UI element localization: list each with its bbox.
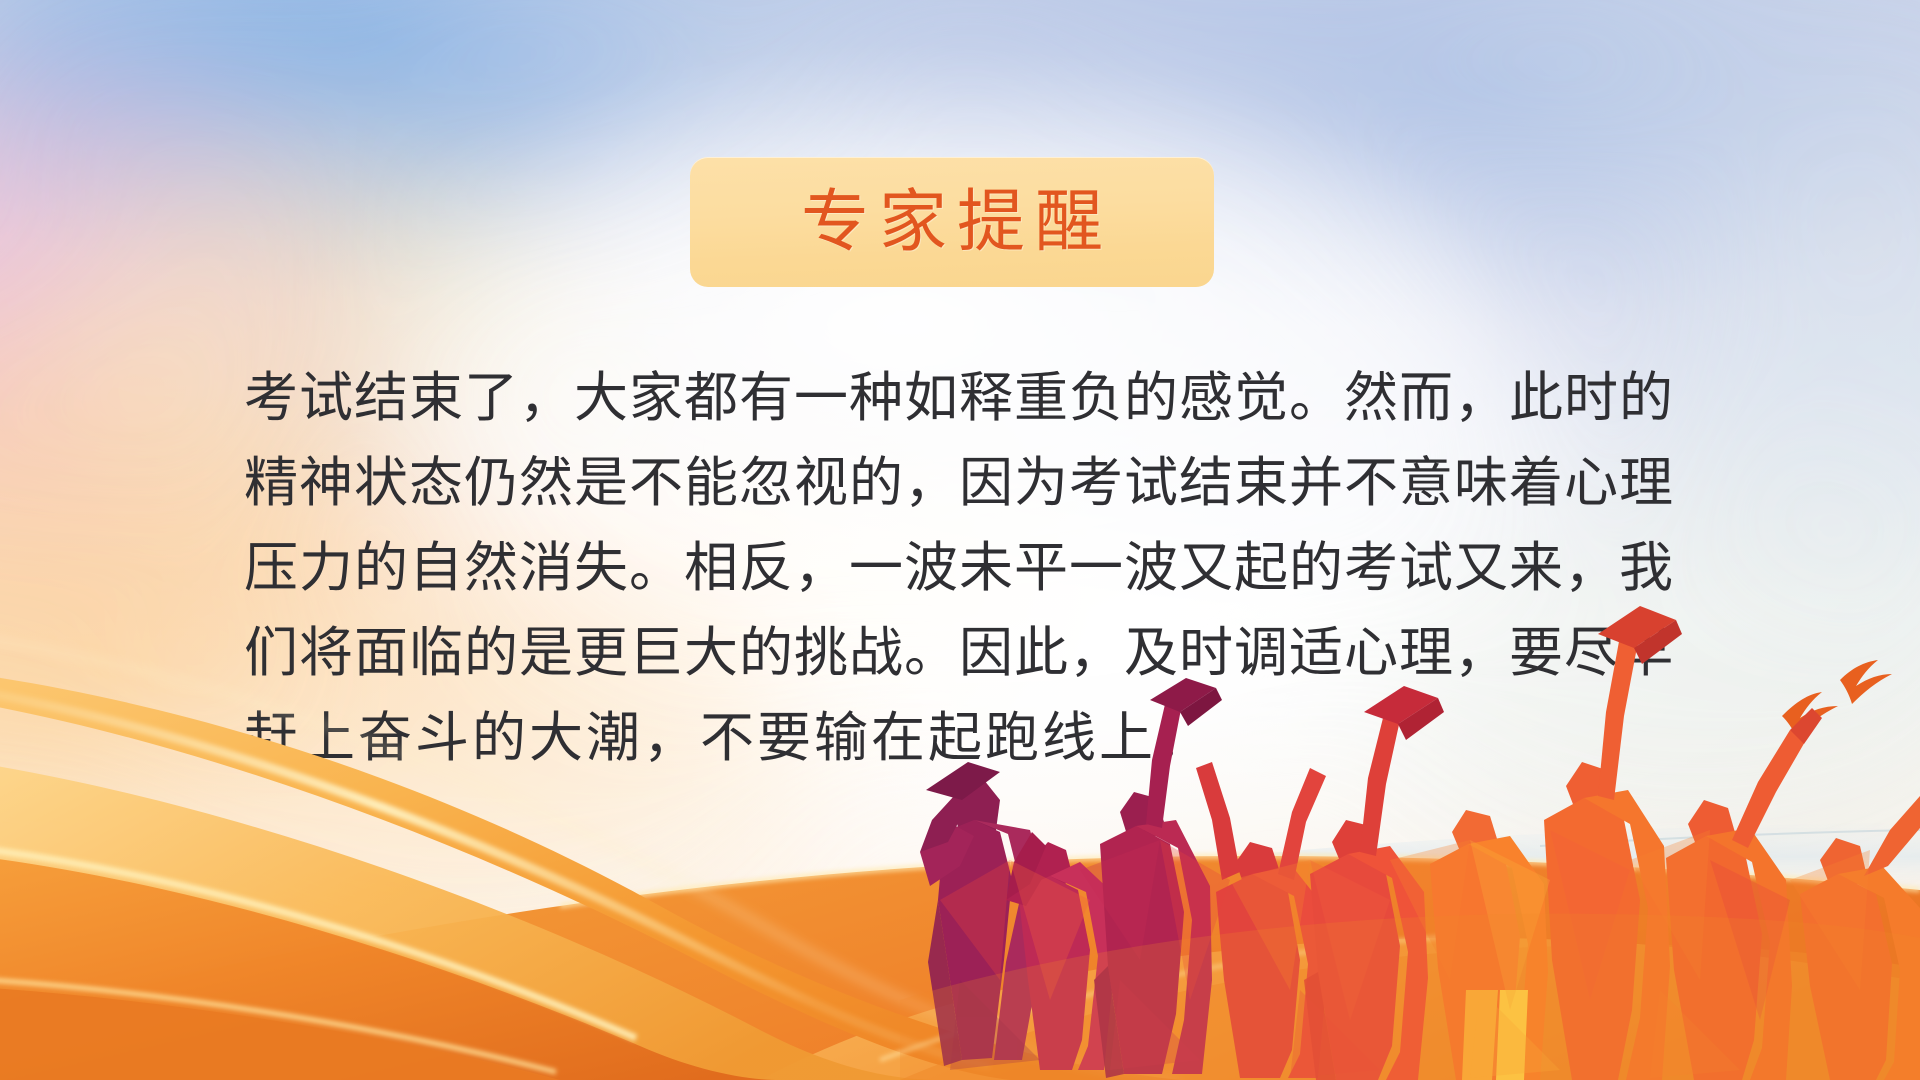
body-line-5: 赶上奋斗的大潮，不要输在起跑线上！	[244, 696, 1696, 781]
page-title: 专家提醒	[791, 188, 1113, 256]
body-line-2: 精神状态仍然是不能忽视的，因为考试结束并不意味着心理	[244, 441, 1696, 526]
body-line-2-text: 精神状态仍然是不能忽视的，因为考试结束并不意味着心理	[244, 441, 1674, 526]
body-line-3: 压力的自然消失。相反，一波未平一波又起的考试又来，我	[244, 526, 1696, 611]
body-line-3-text: 压力的自然消失。相反，一波未平一波又起的考试又来，我	[244, 526, 1674, 611]
body-line-4-text: 们将面临的是更巨大的挑战。因此，及时调适心理，要尽早	[244, 611, 1674, 696]
presentation-slide: 专家提醒 考试结束了，大家都有一种如释重负的感觉。然而，此时的 精神状态仍然是不…	[0, 0, 1920, 1080]
title-badge[interactable]: 专家提醒	[690, 157, 1214, 287]
body-line-4: 们将面临的是更巨大的挑战。因此，及时调适心理，要尽早	[244, 611, 1696, 696]
body-line-1: 考试结束了，大家都有一种如释重负的感觉。然而，此时的	[244, 356, 1696, 441]
body-line-1-text: 考试结束了，大家都有一种如释重负的感觉。然而，此时的	[244, 356, 1674, 441]
body-line-5-text: 赶上奋斗的大潮，不要输在起跑线上！	[244, 708, 1213, 768]
body-paragraph: 考试结束了，大家都有一种如释重负的感觉。然而，此时的 精神状态仍然是不能忽视的，…	[244, 356, 1696, 781]
